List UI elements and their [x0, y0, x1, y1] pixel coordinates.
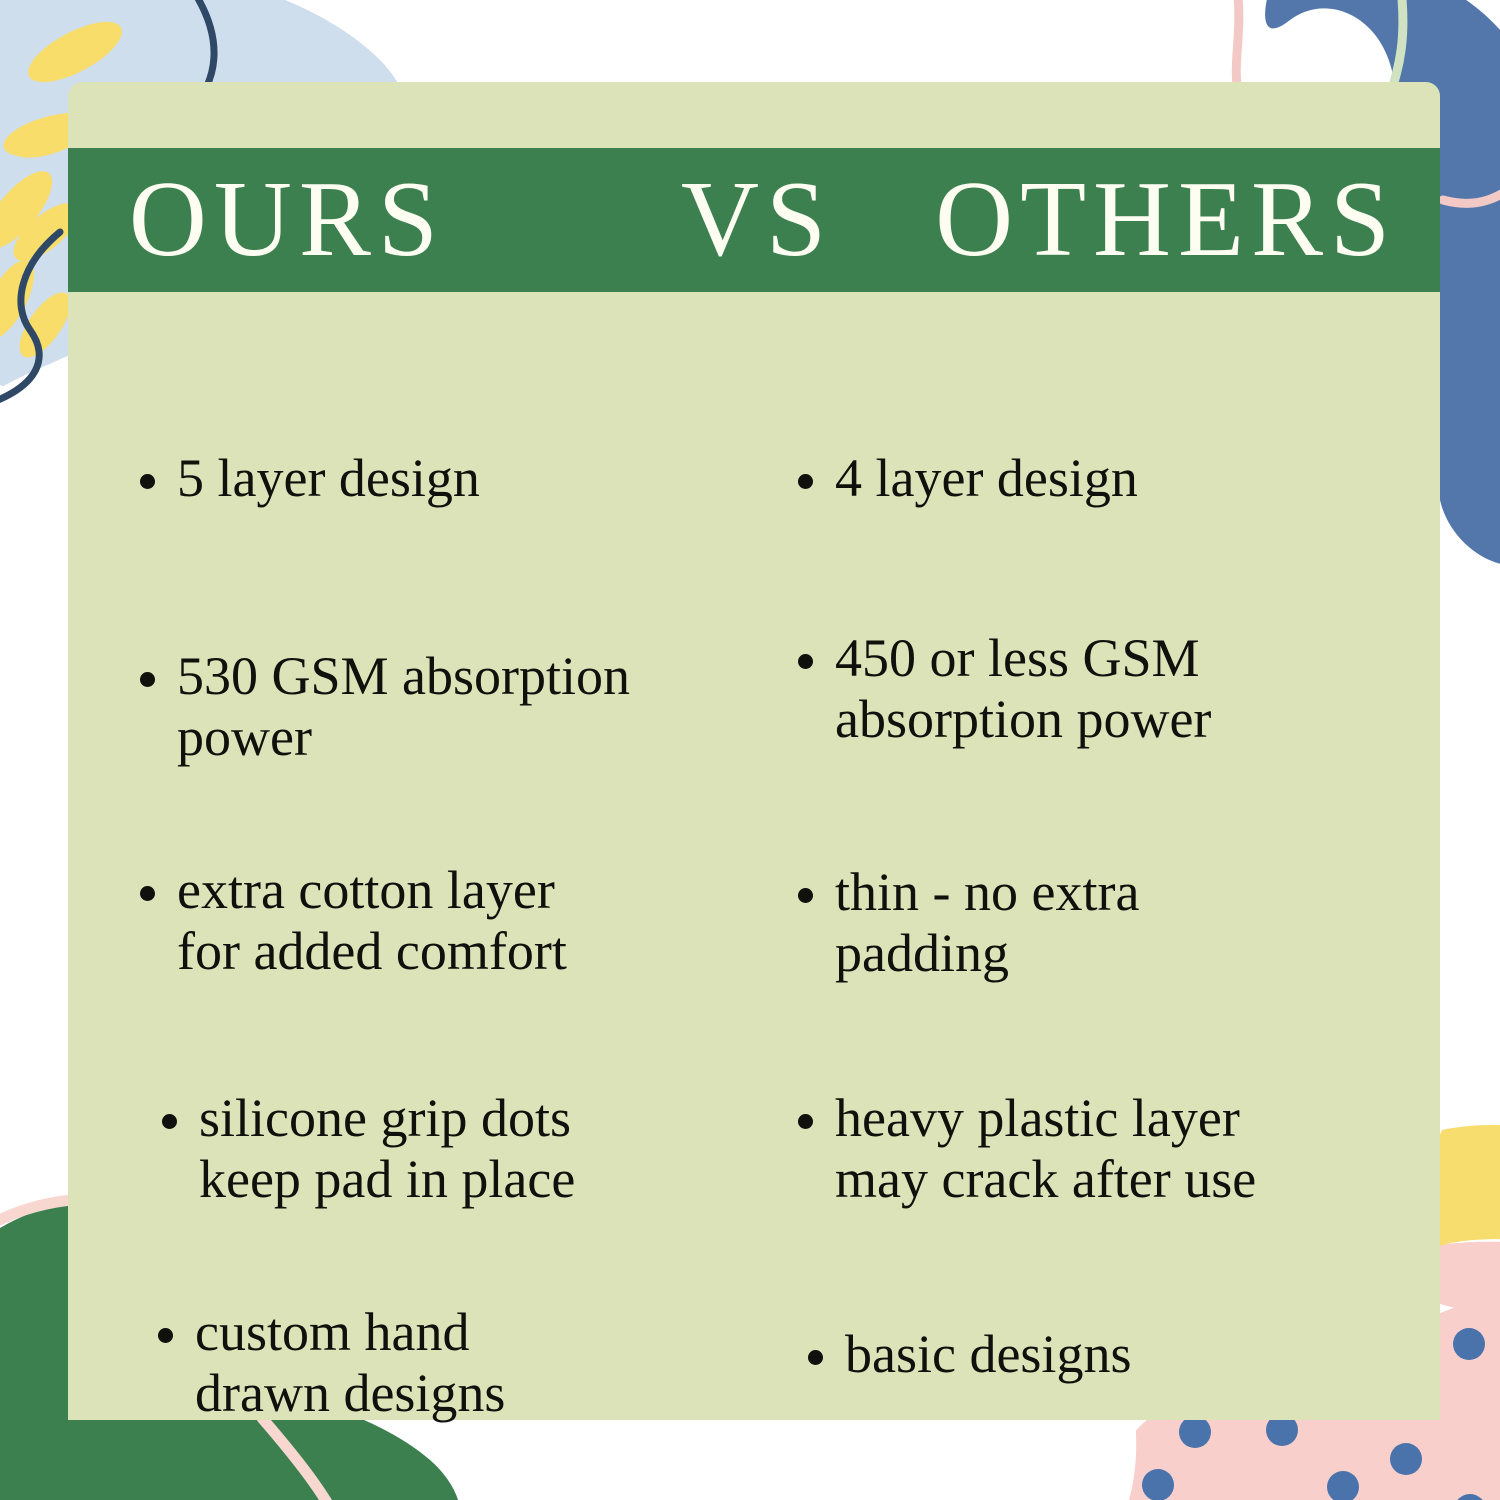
list-item-label: 530 GSM absorption power	[177, 646, 630, 768]
header-band: OURS VS OTHERS	[68, 148, 1440, 292]
column-ours: 5 layer design 530 GSM absorption power …	[68, 332, 780, 1420]
comparison-card: OURS VS OTHERS 5 layer design 530 GSM ab…	[68, 82, 1440, 1420]
pink-line-top-middle	[1236, 0, 1239, 92]
list-item-label: 450 or less GSM absorption power	[835, 628, 1211, 750]
list-item: 5 layer design	[140, 448, 480, 509]
list-item: basic designs	[808, 1324, 1131, 1385]
page-title: OURS VS OTHERS	[68, 166, 1440, 274]
list-item-label: 5 layer design	[177, 448, 480, 509]
bullet-dot-icon	[808, 1350, 823, 1365]
list-item: 530 GSM absorption power	[140, 646, 630, 768]
infographic-canvas: OURS VS OTHERS 5 layer design 530 GSM ab…	[0, 0, 1500, 1500]
list-item: silicone grip dots keep pad in place	[162, 1088, 575, 1210]
white-arc-bottom-right	[1045, 1420, 1136, 1500]
bullet-dot-icon	[798, 474, 813, 489]
list-item: custom hand drawn designs	[158, 1302, 505, 1424]
list-item-label: heavy plastic layer may crack after use	[835, 1088, 1256, 1210]
list-item: thin - no extra padding	[798, 862, 1139, 984]
list-item-label: custom hand drawn designs	[195, 1302, 505, 1424]
column-others: 4 layer design 450 or less GSM absorptio…	[780, 332, 1440, 1420]
list-item: 4 layer design	[798, 448, 1138, 509]
bullet-dot-icon	[140, 672, 155, 687]
list-item-label: basic designs	[845, 1324, 1131, 1385]
list-item-label: 4 layer design	[835, 448, 1138, 509]
bullet-dot-icon	[140, 886, 155, 901]
comparison-columns: 5 layer design 530 GSM absorption power …	[68, 332, 1440, 1420]
list-item: extra cotton layer for added comfort	[140, 860, 567, 982]
slate-blue-blob-tail-right	[1440, 428, 1500, 566]
bullet-dot-icon	[798, 1114, 813, 1129]
list-item-label: extra cotton layer for added comfort	[177, 860, 567, 982]
list-item: 450 or less GSM absorption power	[798, 628, 1211, 750]
bullet-dot-icon	[158, 1328, 173, 1343]
bullet-dot-icon	[140, 474, 155, 489]
yellow-shape-bottom-right	[1430, 1125, 1500, 1246]
list-item-label: silicone grip dots keep pad in place	[199, 1088, 575, 1210]
bullet-dot-icon	[798, 888, 813, 903]
bullet-dot-icon	[162, 1114, 177, 1129]
list-item: heavy plastic layer may crack after use	[798, 1088, 1256, 1210]
list-item-label: thin - no extra padding	[835, 862, 1139, 984]
bullet-dot-icon	[798, 654, 813, 669]
